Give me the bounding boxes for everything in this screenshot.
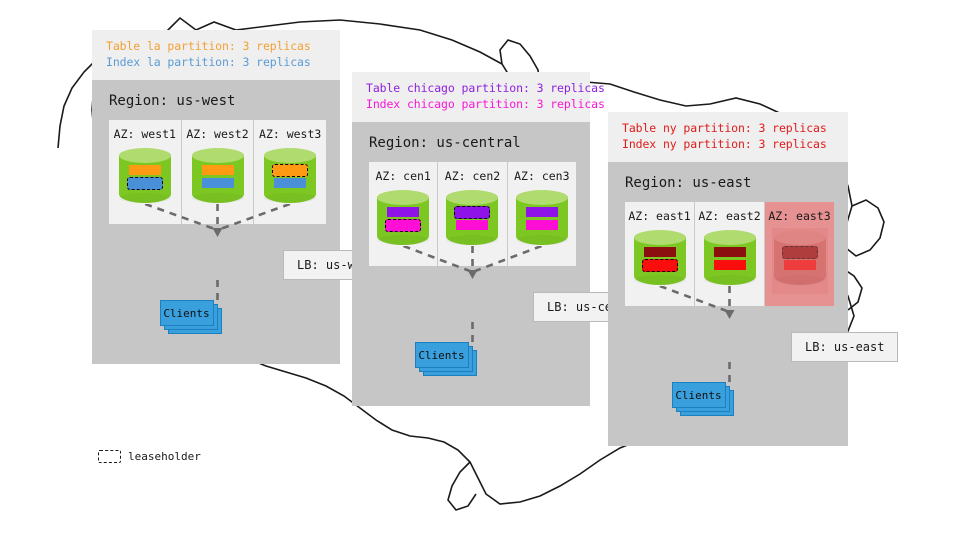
cylinder-top (774, 230, 826, 245)
database-cylinder-icon (704, 230, 756, 292)
region-group-us-central: Table chicago partition: 3 replicasIndex… (352, 72, 590, 406)
replica-bar (644, 247, 676, 257)
replica-bar-leaseholder (272, 164, 308, 177)
az-label: AZ: cen2 (445, 169, 500, 183)
database-cylinder-icon (634, 230, 686, 292)
az-cell-cen1[interactable]: AZ: cen1 (369, 162, 438, 266)
clients-card-front: Clients (672, 382, 726, 408)
replica-bar (784, 260, 816, 270)
replica-bars (704, 247, 756, 270)
load-balancer-box-us-east[interactable]: LB: us-east (791, 332, 898, 362)
region-title: Region: us-west (92, 80, 340, 120)
replica-bar (274, 178, 306, 188)
database-cylinder-icon (774, 230, 826, 292)
replica-bar-leaseholder (642, 259, 678, 272)
clients-card-front: Clients (415, 342, 469, 368)
replica-bar (387, 207, 419, 217)
replica-bars (634, 247, 686, 270)
partition-line: Table ny partition: 3 replicas (622, 121, 834, 137)
partition-line: Index la partition: 3 replicas (106, 55, 326, 71)
partition-line: Table chicago partition: 3 replicas (366, 81, 576, 97)
replica-bars (119, 165, 171, 188)
cylinder-top (516, 190, 568, 205)
cylinder-top (704, 230, 756, 245)
cylinder-base (377, 235, 429, 245)
replica-bar (526, 207, 558, 217)
cylinder-base (264, 193, 316, 203)
az-label: AZ: east3 (768, 209, 830, 223)
partition-banner-us-west: Table la partition: 3 replicasIndex la p… (92, 30, 340, 80)
az-label: AZ: east1 (628, 209, 690, 223)
database-cylinder-icon (119, 148, 171, 210)
cylinder-base (704, 275, 756, 285)
cylinder-base (634, 275, 686, 285)
az-cell-cen3[interactable]: AZ: cen3 (508, 162, 576, 266)
region-panel-us-central: Region: us-centralAZ: cen1AZ: cen2AZ: ce… (352, 122, 590, 406)
diagram-canvas: Table la partition: 3 replicasIndex la p… (0, 0, 960, 540)
replica-bars (264, 165, 316, 188)
cylinder-base (192, 193, 244, 203)
region-title: Region: us-central (352, 122, 590, 162)
lb-client-column: LB: us-eastClients (608, 336, 848, 446)
replica-bar-leaseholder (782, 246, 818, 259)
replica-bar-leaseholder (385, 219, 421, 232)
clients-holder: Clients (608, 388, 848, 424)
database-cylinder-icon (377, 190, 429, 252)
az-cell-east3[interactable]: AZ: east3 (765, 202, 834, 306)
legend: leaseholder (98, 450, 201, 463)
partition-banner-us-central: Table chicago partition: 3 replicasIndex… (352, 72, 590, 122)
az-cell-cen2[interactable]: AZ: cen2 (438, 162, 507, 266)
cylinder-top (264, 148, 316, 163)
az-strip-us-central: AZ: cen1AZ: cen2AZ: cen3 (369, 162, 576, 266)
region-title: Region: us-east (608, 162, 848, 202)
replica-bar (714, 247, 746, 257)
clients-stack-us-east[interactable]: Clients (672, 382, 734, 416)
replica-bar (714, 260, 746, 270)
replica-bars (516, 207, 568, 230)
az-label: AZ: west2 (186, 127, 248, 141)
az-cell-west1[interactable]: AZ: west1 (109, 120, 182, 224)
replica-bars (192, 165, 244, 188)
az-cell-east2[interactable]: AZ: east2 (695, 202, 765, 306)
cylinder-base (446, 235, 498, 245)
cylinder-top (119, 148, 171, 163)
replica-bars (446, 207, 498, 230)
clients-card-front: Clients (160, 300, 214, 326)
cylinder-top (192, 148, 244, 163)
lb-client-column: LB: us-westClients (92, 254, 340, 364)
cylinder-top (377, 190, 429, 205)
region-group-us-west: Table la partition: 3 replicasIndex la p… (92, 30, 340, 364)
replica-bars (774, 247, 826, 270)
replica-bar (129, 165, 161, 175)
az-label: AZ: east2 (698, 209, 760, 223)
cylinder-top (634, 230, 686, 245)
clients-stack-us-central[interactable]: Clients (415, 342, 477, 376)
database-cylinder-icon (264, 148, 316, 210)
cylinder-base (516, 235, 568, 245)
az-cell-east1[interactable]: AZ: east1 (625, 202, 695, 306)
az-label: AZ: cen1 (375, 169, 430, 183)
database-cylinder-icon (192, 148, 244, 210)
replica-bar (202, 165, 234, 175)
clients-stack-us-west[interactable]: Clients (160, 300, 222, 334)
lb-client-column: LB: us-centralClients (352, 296, 590, 406)
replica-bar (526, 220, 558, 230)
replica-bars (377, 207, 429, 230)
clients-holder: Clients (92, 306, 340, 342)
partition-banner-us-east: Table ny partition: 3 replicasIndex ny p… (608, 112, 848, 162)
az-strip-us-west: AZ: west1AZ: west2AZ: west3 (109, 120, 326, 224)
az-label: AZ: west3 (259, 127, 321, 141)
legend-label: leaseholder (128, 450, 201, 463)
region-panel-us-west: Region: us-westAZ: west1AZ: west2AZ: wes… (92, 80, 340, 364)
cylinder-base (774, 275, 826, 285)
partition-line: Index chicago partition: 3 replicas (366, 97, 576, 113)
az-cell-west2[interactable]: AZ: west2 (182, 120, 255, 224)
clients-holder: Clients (352, 348, 590, 384)
replica-bar-leaseholder (127, 177, 163, 190)
az-label: AZ: cen3 (514, 169, 569, 183)
partition-line: Index ny partition: 3 replicas (622, 137, 834, 153)
database-cylinder-icon (516, 190, 568, 252)
partition-line: Table la partition: 3 replicas (106, 39, 326, 55)
az-strip-us-east: AZ: east1AZ: east2AZ: east3 (625, 202, 834, 306)
replica-bar (456, 220, 488, 230)
replica-bar (202, 178, 234, 188)
cylinder-base (119, 193, 171, 203)
az-label: AZ: west1 (114, 127, 176, 141)
az-cell-west3[interactable]: AZ: west3 (254, 120, 326, 224)
database-cylinder-icon (446, 190, 498, 252)
region-group-us-east: Table ny partition: 3 replicasIndex ny p… (608, 112, 848, 446)
leaseholder-swatch-icon (98, 450, 121, 463)
replica-bar-leaseholder (454, 206, 490, 219)
region-panel-us-east: Region: us-eastAZ: east1AZ: east2AZ: eas… (608, 162, 848, 446)
